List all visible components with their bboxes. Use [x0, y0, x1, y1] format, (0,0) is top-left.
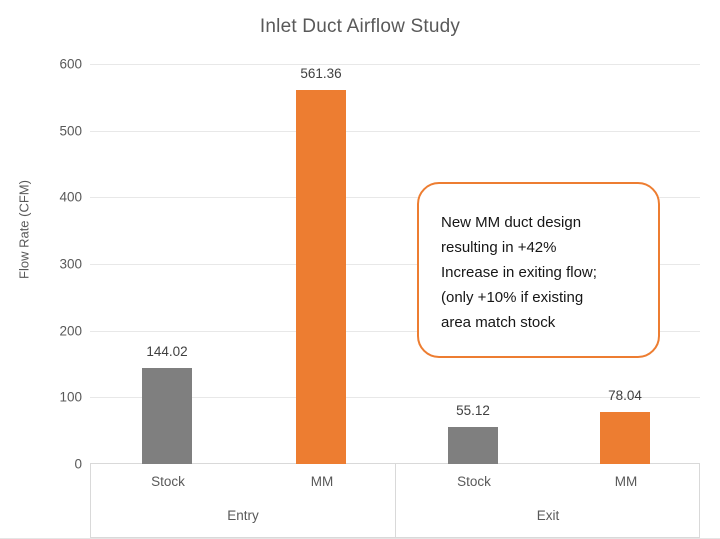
- bar-exit-mm[interactable]: [600, 412, 650, 464]
- y-tick-100: 100: [12, 390, 82, 405]
- data-label-exit-mm: 78.04: [608, 388, 642, 403]
- bar-entry-stock[interactable]: [142, 368, 192, 464]
- y-axis-tick-labels: 600 500 400 300 200 100 0: [8, 64, 82, 464]
- category-group-divider: [395, 464, 396, 537]
- callout-line-3: Increase in exiting flow;: [441, 260, 644, 285]
- category-label-exit-stock: Stock: [457, 474, 491, 489]
- y-tick-500: 500: [12, 123, 82, 138]
- category-label-entry-mm: MM: [311, 474, 334, 489]
- group-label-exit: Exit: [537, 508, 560, 523]
- chart-title: Inlet Duct Airflow Study: [0, 16, 720, 38]
- chart-container: Inlet Duct Airflow Study Flow Rate (CFM)…: [0, 0, 720, 539]
- callout-box[interactable]: New MM duct design resulting in +42% Inc…: [417, 182, 660, 358]
- category-label-exit-mm: MM: [615, 474, 638, 489]
- data-label-entry-mm: 561.36: [300, 66, 341, 81]
- category-label-entry-stock: Stock: [151, 474, 185, 489]
- data-label-entry-stock: 144.02: [146, 344, 187, 359]
- callout-text: New MM duct design resulting in +42% Inc…: [441, 210, 644, 335]
- group-label-entry: Entry: [227, 508, 259, 523]
- gridline-500: [90, 131, 700, 132]
- y-tick-300: 300: [12, 257, 82, 272]
- category-axis: Stock MM Stock MM Entry Exit: [90, 464, 700, 538]
- gridline-600: [90, 64, 700, 65]
- y-tick-200: 200: [12, 323, 82, 338]
- bar-exit-stock[interactable]: [448, 427, 498, 464]
- callout-line-1: New MM duct design: [441, 210, 644, 235]
- callout-line-4: (only +10% if existing: [441, 285, 644, 310]
- y-tick-0: 0: [12, 457, 82, 472]
- y-tick-400: 400: [12, 190, 82, 205]
- y-tick-600: 600: [12, 57, 82, 72]
- data-label-exit-stock: 55.12: [456, 403, 490, 418]
- callout-line-5: area match stock: [441, 310, 644, 335]
- callout-line-2: resulting in +42%: [441, 235, 644, 260]
- bar-entry-mm[interactable]: [296, 90, 346, 464]
